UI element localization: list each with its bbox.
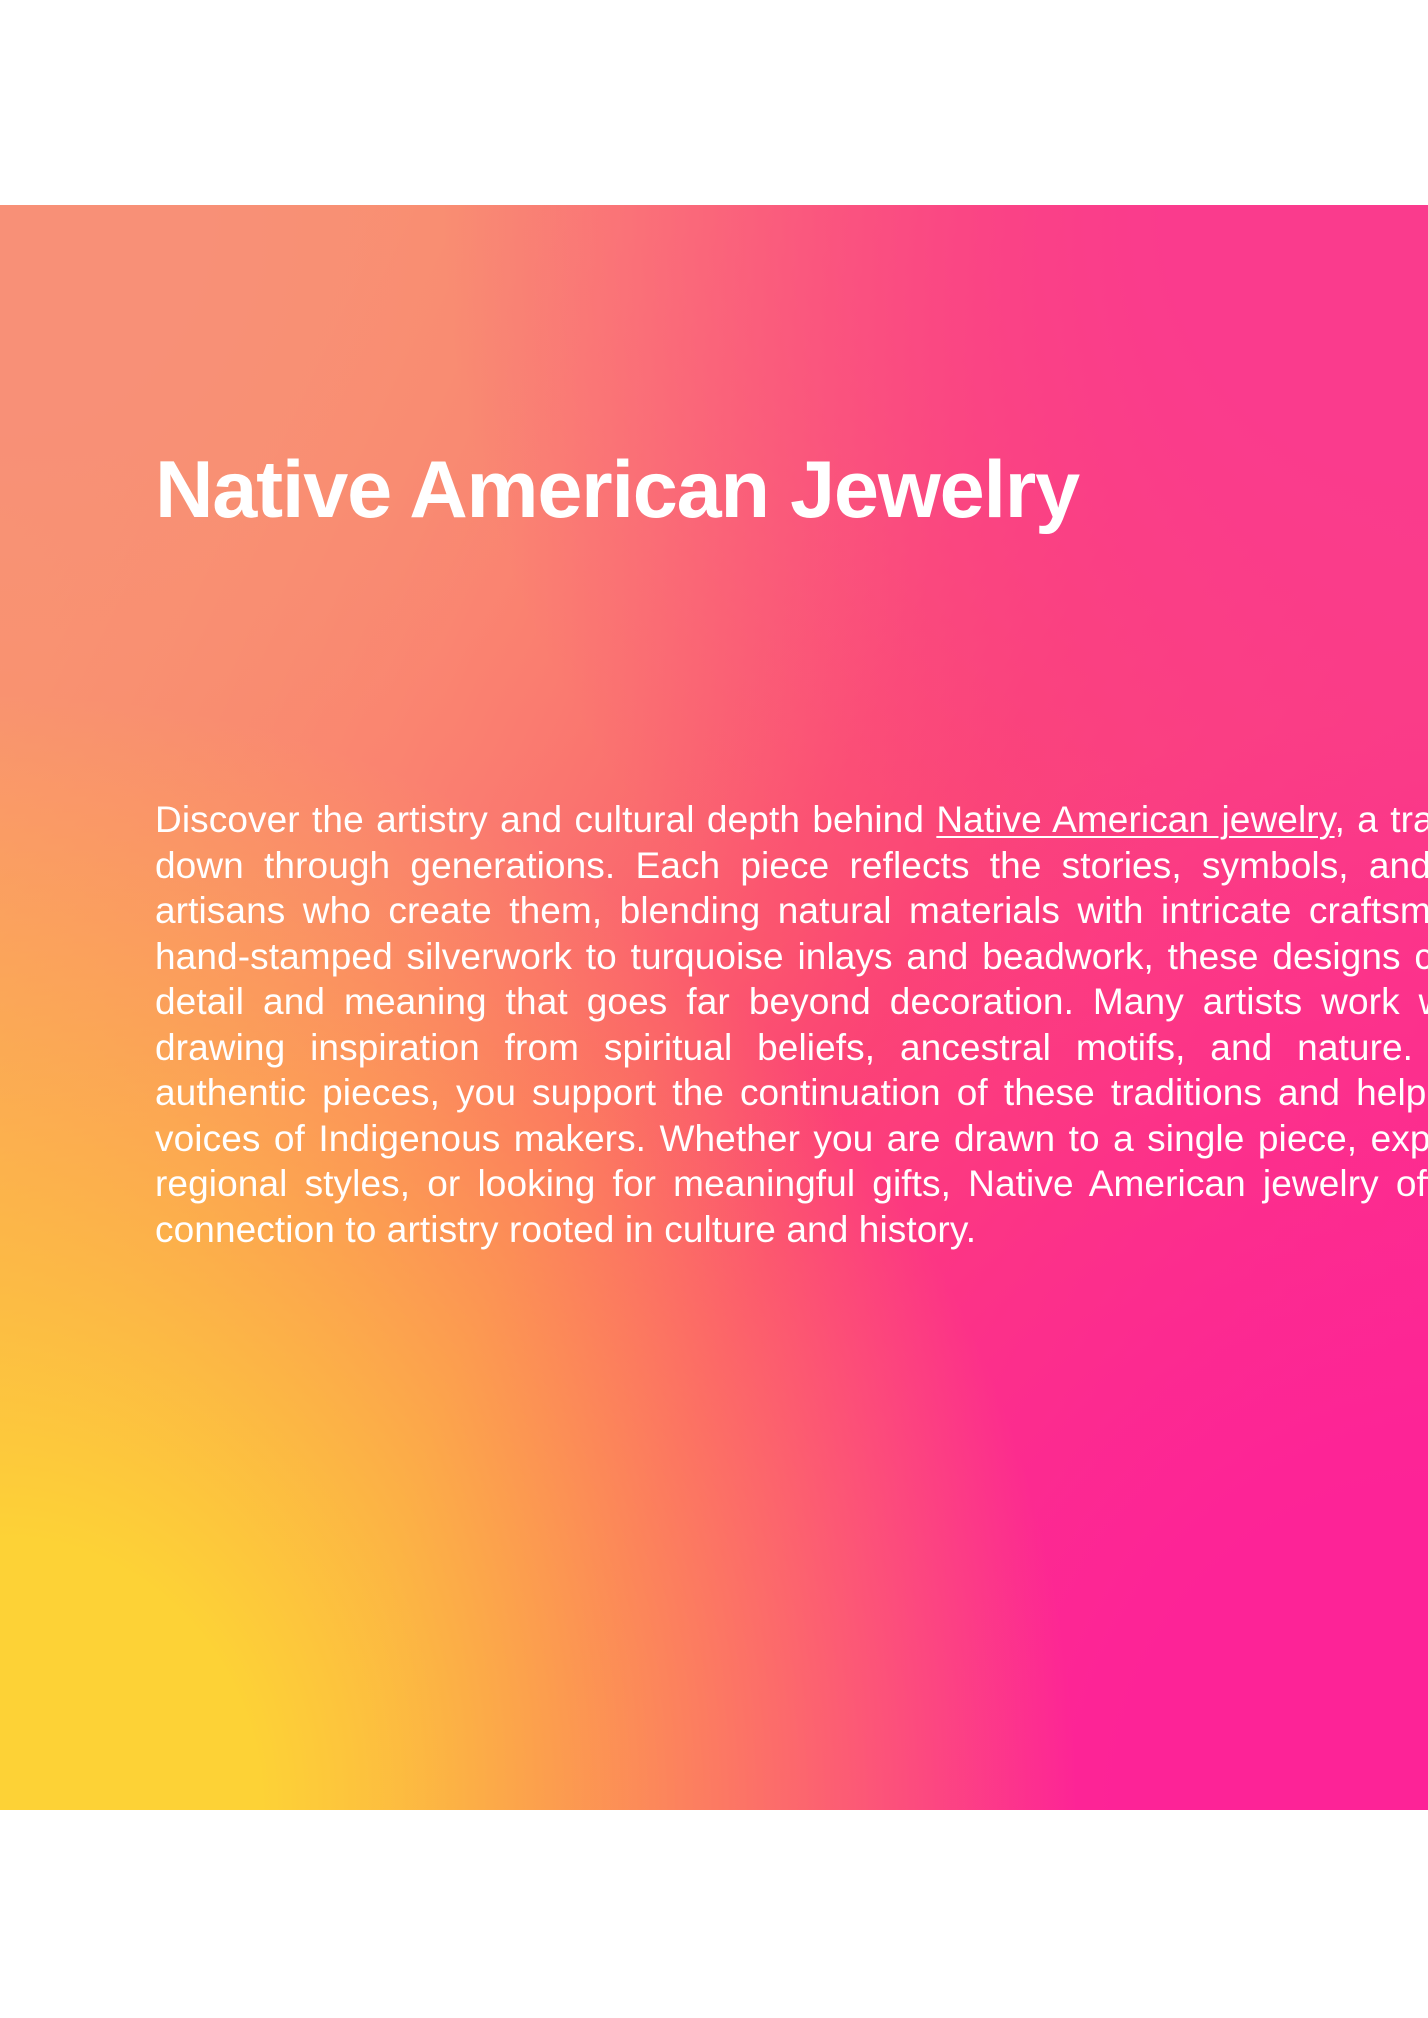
hero-body-lead: Discover the artistry and cultural depth… <box>155 799 936 840</box>
hero-body-rest: , a tradition passed down through genera… <box>155 799 1428 1250</box>
top-white-band <box>0 0 1428 205</box>
native-american-jewelry-link[interactable]: Native American jewelry <box>936 799 1334 840</box>
bottom-white-band <box>0 1810 1428 2018</box>
hero-content-wrapper: Native American Jewelry Discover the art… <box>0 205 1428 1810</box>
hero-gradient-section: Native American Jewelry Discover the art… <box>0 205 1428 1810</box>
hero-body-paragraph: Discover the artistry and cultural depth… <box>155 797 1428 1252</box>
page-title: Native American Jewelry <box>155 445 1428 536</box>
page-root: Native American Jewelry Discover the art… <box>0 0 1428 2018</box>
